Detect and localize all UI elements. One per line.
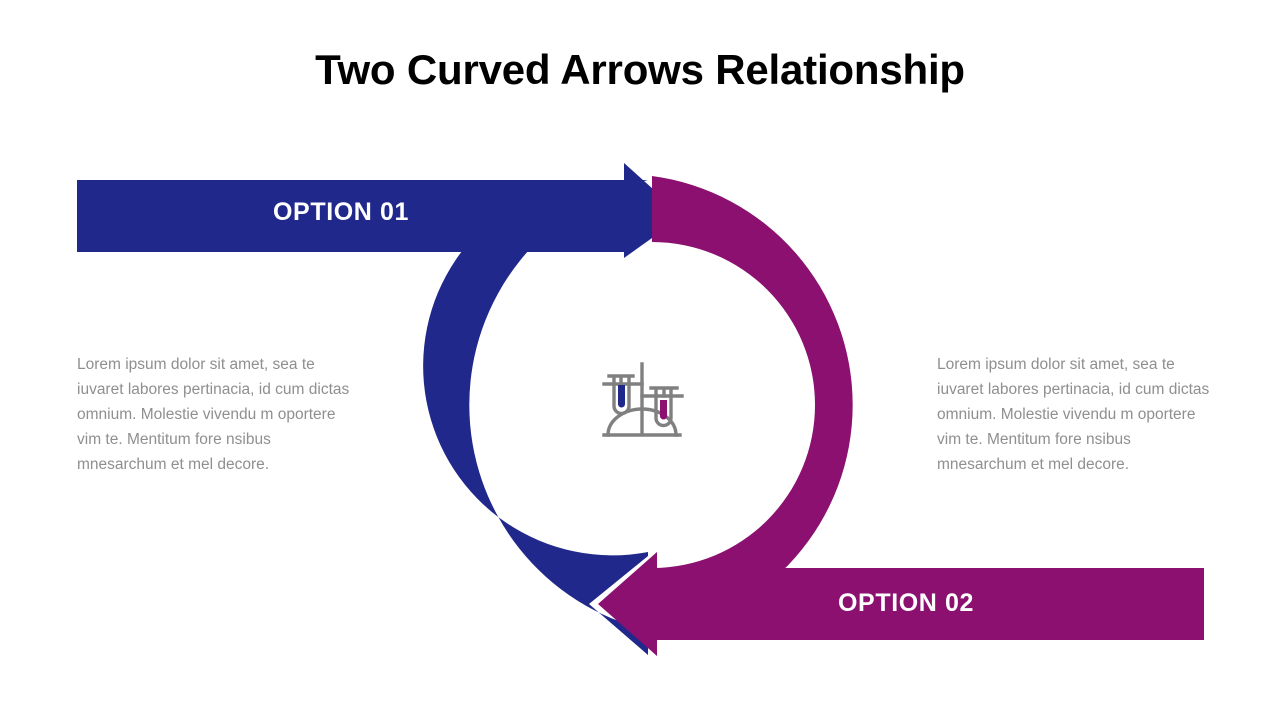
option-02-label: OPTION 02 [838,589,974,618]
test-tube-left-liquid [618,385,625,408]
test-tube-right-liquid [660,400,667,420]
option-02-body-text: Lorem ipsum dolor sit amet, sea te iuvar… [937,352,1217,477]
option-01-label: OPTION 01 [273,198,409,227]
slide-canvas: Two Curved Arrows Relationship OPTION 01… [0,0,1280,720]
option-01-body-text: Lorem ipsum dolor sit amet, sea te iuvar… [77,352,357,477]
test-tube-rack-icon [594,358,690,450]
